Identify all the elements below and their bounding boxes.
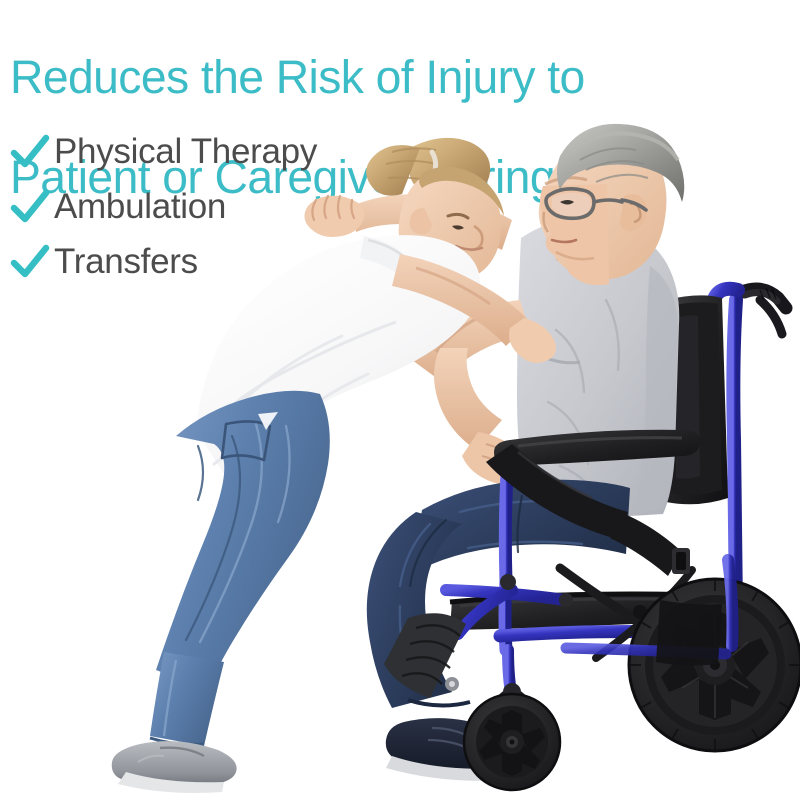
product-benefit-graphic: Reduces the Risk of Injury to Patient or… xyxy=(0,0,800,800)
benefit-list: Physical Therapy Ambulation Transfers xyxy=(6,124,436,289)
benefit-label: Ambulation xyxy=(54,188,226,226)
benefit-item-transfers: Transfers xyxy=(6,234,436,289)
benefit-label: Transfers xyxy=(54,243,198,281)
benefit-item-ambulation: Ambulation xyxy=(6,179,436,234)
check-icon xyxy=(6,240,54,284)
benefit-label: Physical Therapy xyxy=(54,133,317,171)
benefit-item-physical-therapy: Physical Therapy xyxy=(6,124,436,179)
check-icon xyxy=(6,130,54,174)
hero-photo xyxy=(0,0,800,800)
check-icon xyxy=(6,185,54,229)
